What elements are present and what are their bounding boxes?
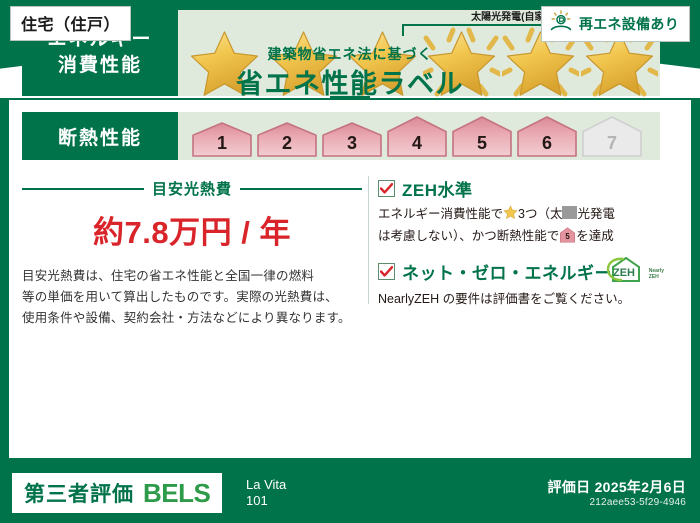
renewable-energy-badge: 再エネ設備あり (541, 6, 690, 42)
third-party-evaluation-label: 第三者評価 (24, 478, 134, 508)
svg-text:ZEH: ZEH (613, 267, 635, 279)
insulation-performance-label: 断熱性能 (22, 112, 178, 160)
zeh-logo: ZEH Nearly ZEH (601, 256, 664, 283)
zeh-desc-part-b: 3つ（太 (518, 207, 562, 221)
zeh-standard-title: ZEH水準 (402, 176, 473, 201)
house-rating-scale: 1234567 (190, 114, 644, 158)
checkmark-icon (378, 180, 395, 197)
utility-cost-note-line3: 使用条件や設備、契約会社・方法などにより異なります。 (22, 308, 362, 329)
inline-star-icon (503, 205, 518, 226)
net-zero-energy-title: ネット・ゼロ・エネルギー (402, 259, 612, 284)
checkmark-icon (378, 263, 395, 280)
insulation-performance-meter: 1234567 (178, 112, 660, 160)
utility-cost-note-line1: 目安光熱費は、住宅の省エネ性能と全国一律の燃料 (22, 266, 362, 287)
evaluation-id: 212aee53-5f29-4946 (590, 497, 686, 508)
house-rating-6: 6 (515, 114, 579, 158)
house-rating-number: 4 (385, 133, 449, 154)
zeh-standard-item: ZEH水準 エネルギー消費性能で3つ（太光発電 は考慮しない）、かつ断熱性能で5… (378, 176, 670, 249)
zeh-desc-part-c: 光発電 (577, 207, 615, 221)
house-rating-number: 3 (320, 133, 384, 154)
house-rating-2: 2 (255, 120, 319, 158)
utility-cost-value: 約7.8万円 / 年 (22, 207, 362, 252)
house-rating-number: 5 (450, 133, 514, 154)
heading-rule-left (22, 188, 144, 190)
building-name: La Vita 101 (246, 477, 286, 509)
svg-text:5: 5 (566, 232, 571, 241)
heading-rule-right (240, 188, 362, 190)
energy-performance-label: 住宅（住戸） 再エネ設備あり 建築物省エネ法に基づく 省エネ性能ラベル (0, 0, 700, 523)
utility-cost-title: 目安光熱費 (152, 178, 232, 199)
house-type-chip: 住宅（住戸） (10, 6, 131, 41)
zeh-desc-part-a: エネルギー消費性能で (378, 207, 503, 221)
house-rating-3: 3 (320, 120, 384, 158)
zeh-logo-sub2: ZEH (649, 274, 659, 280)
footer-bar: 第三者評価 BELS La Vita 101 評価日 2025年2月6日 212… (0, 465, 700, 523)
bels-certification-chip: 第三者評価 BELS (12, 473, 222, 513)
label-subtitle: 建築物省エネ法に基づく (0, 44, 700, 64)
insulation-performance-row: 断熱性能 1234567 (22, 112, 660, 160)
redaction-block (562, 206, 577, 219)
zeh-divider (368, 176, 369, 304)
building-name-line2: 101 (246, 493, 286, 509)
house-rating-number: 2 (255, 133, 319, 154)
house-rating-number: 6 (515, 133, 579, 154)
label-title: 省エネ性能ラベル (0, 62, 700, 101)
insulation-label-text: 断熱性能 (58, 123, 142, 150)
zeh-standard-description: エネルギー消費性能で3つ（太光発電 は考慮しない）、かつ断熱性能で5を達成 (378, 204, 670, 249)
bels-logo: BELS (143, 478, 210, 509)
house-rating-number: 1 (190, 133, 254, 154)
evaluation-date: 評価日 2025年2月6日 (547, 477, 686, 497)
utility-cost-block: 目安光熱費 約7.8万円 / 年 目安光熱費は、住宅の省エネ性能と全国一律の燃料… (22, 178, 362, 329)
zeh-logo-sublabel: Nearly ZEH (649, 268, 664, 283)
house-rating-5: 5 (450, 114, 514, 158)
utility-cost-note: 目安光熱費は、住宅の省エネ性能と全国一律の燃料 等の単価を用いて算出したものです… (22, 266, 362, 329)
zeh-desc-part-d: は考慮しない）、かつ断熱性能で (378, 229, 559, 243)
net-zero-energy-description: NearlyZEH の要件は評価書をご覧ください。 (378, 289, 670, 309)
renewable-badge-label: 再エネ設備あり (579, 14, 679, 34)
inline-house-badge: 5 (559, 227, 576, 249)
utility-cost-heading: 目安光熱費 (22, 178, 362, 199)
net-zero-energy-item: ネット・ゼロ・エネルギー ZEH Nearly ZEH NearlyZEH の要… (378, 259, 670, 309)
house-rating-4: 4 (385, 114, 449, 158)
zeh-standard-header: ZEH水準 (378, 176, 670, 201)
utility-cost-note-line2: 等の単価を用いて算出したものです。実際の光熱費は、 (22, 287, 362, 308)
house-rating-1: 1 (190, 120, 254, 158)
zeh-desc-part-e: を達成 (576, 229, 614, 243)
building-name-line1: La Vita (246, 477, 286, 493)
house-rating-number: 7 (580, 133, 644, 154)
house-rating-7: 7 (580, 114, 644, 158)
sun-icon (549, 10, 573, 37)
zeh-block: ZEH水準 エネルギー消費性能で3つ（太光発電 は考慮しない）、かつ断熱性能で5… (378, 176, 670, 313)
